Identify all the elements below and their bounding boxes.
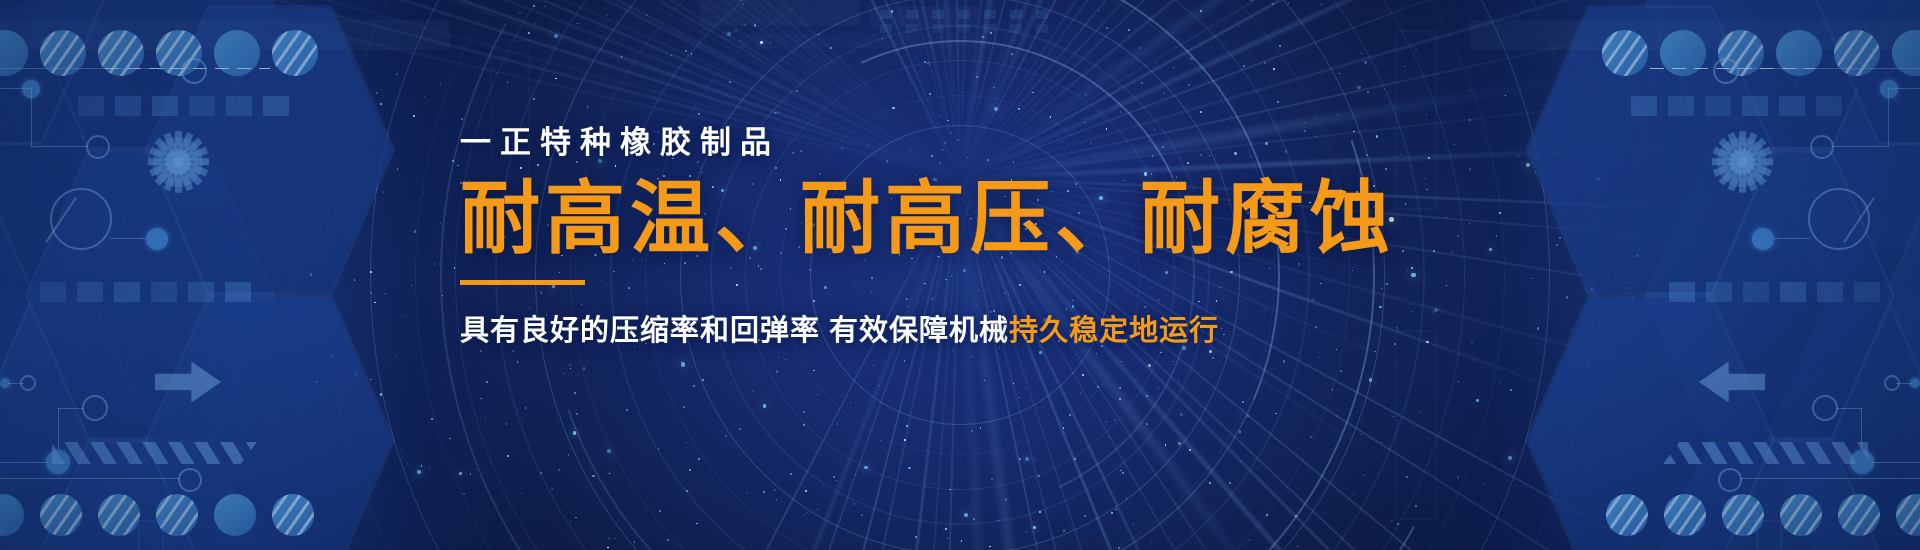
- chip-block: [1816, 96, 1842, 116]
- gear-icon: [146, 130, 210, 194]
- chip-block: [1668, 96, 1694, 116]
- arrow-right-icon: [155, 362, 221, 403]
- chip-block: [189, 96, 215, 116]
- chip-block: [78, 96, 104, 116]
- node-circle: [1718, 468, 1742, 492]
- pill-dot: [214, 30, 260, 76]
- pill-dot: [98, 30, 144, 76]
- chip-block: [1705, 96, 1731, 116]
- chip-block: [226, 96, 252, 116]
- pill-dot: [1602, 30, 1648, 76]
- chip-block: [1743, 282, 1769, 302]
- chip-block: [152, 96, 178, 116]
- chip-block: [1817, 282, 1843, 302]
- chip-block: [151, 282, 177, 302]
- pill-dot: [272, 494, 314, 536]
- pill-dot: [1780, 494, 1822, 536]
- chip-block: [1669, 282, 1695, 302]
- pill-dot: [98, 494, 140, 536]
- tagline-white-part: 具有良好的压缩率和回弹率 有效保障机械: [460, 315, 1009, 347]
- pill-dot: [1664, 494, 1706, 536]
- arrow-left-icon: [1699, 362, 1765, 403]
- pill-dot: [40, 494, 82, 536]
- node-circle: [178, 468, 202, 492]
- orange-divider: [460, 280, 585, 285]
- hatched-bar: [1663, 442, 1868, 464]
- hatched-bar: [52, 442, 257, 464]
- chip-block: [114, 282, 140, 302]
- pill-dot: [40, 30, 86, 76]
- chip-block: [1854, 282, 1880, 302]
- chip-block: [1742, 96, 1768, 116]
- chip-block: [77, 282, 103, 302]
- node-circle: [181, 58, 207, 84]
- hero-banner: 一正特种橡胶制品 耐高温、耐高压、耐腐蚀 具有良好的压缩率和回弹率 有效保障机械…: [0, 0, 1920, 550]
- pill-dot: [1776, 30, 1822, 76]
- pill-dot: [272, 30, 318, 76]
- pill-dot: [1834, 30, 1880, 76]
- node-circle: [86, 135, 110, 159]
- pill-dot: [214, 494, 256, 536]
- chip-block: [1779, 96, 1805, 116]
- pill-dot: [1896, 494, 1920, 536]
- chip-block: [263, 96, 289, 116]
- tagline-orange-part: 持久稳定地运行: [1009, 315, 1219, 347]
- pill-dot: [1660, 30, 1706, 76]
- gear-icon: [1710, 130, 1774, 194]
- hero-tagline: 具有良好的压缩率和回弹率 有效保障机械持久稳定地运行: [460, 307, 1460, 349]
- chip-block: [1631, 96, 1657, 116]
- pill-dot: [1606, 494, 1648, 536]
- brand-eyebrow: 一正特种橡胶制品: [460, 126, 1460, 160]
- chip-block: [225, 282, 251, 302]
- chip-block: [1706, 282, 1732, 302]
- node-circle: [1812, 395, 1838, 421]
- pill-dot: [1838, 494, 1880, 536]
- chip-block: [1780, 282, 1806, 302]
- node-circle: [82, 395, 108, 421]
- node-circle: [1713, 58, 1739, 84]
- hero-text-block: 一正特种橡胶制品 耐高温、耐高压、耐腐蚀 具有良好的压缩率和回弹率 有效保障机械…: [460, 126, 1460, 349]
- node-circle: [1810, 135, 1834, 159]
- hero-headline: 耐高温、耐高压、耐腐蚀: [460, 176, 1460, 262]
- chip-block: [115, 96, 141, 116]
- chip-block: [40, 282, 66, 302]
- chip-block: [188, 282, 214, 302]
- pill-dot: [0, 494, 24, 536]
